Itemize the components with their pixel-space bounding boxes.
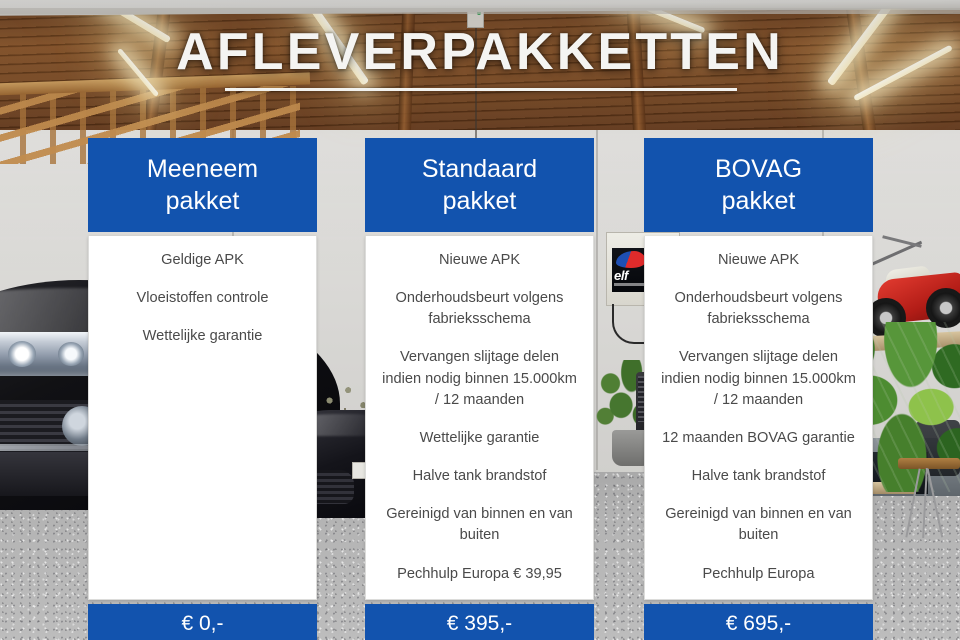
card-header: Standaard pakket	[365, 138, 594, 232]
feature-item: Vervangen slijtage delen indien nodig bi…	[655, 347, 862, 410]
feature-item: Wettelijke garantie	[376, 428, 583, 449]
page-title: AFLEVERPAKKETTEN	[0, 22, 960, 82]
feature-item: Geldige APK	[99, 250, 306, 271]
card-title-line-2: pakket	[422, 185, 537, 218]
feature-item: Onderhoudsbeurt volgens fabrieksschema	[376, 288, 583, 330]
pricing-card-bovag-pakket[interactable]: BOVAG pakket Nieuwe APK Onderhoudsbeurt …	[644, 138, 873, 640]
card-feature-list: Nieuwe APK Onderhoudsbeurt volgens fabri…	[644, 236, 873, 600]
feature-item: Nieuwe APK	[376, 250, 583, 271]
feature-item: Onderhoudsbeurt volgens fabrieksschema	[655, 288, 862, 330]
feature-item: Halve tank brandstof	[655, 466, 862, 487]
pricing-banner: elf	[0, 0, 960, 640]
card-header: BOVAG pakket	[644, 138, 873, 232]
feature-item: Wettelijke garantie	[99, 326, 306, 347]
card-price[interactable]: € 0,-	[88, 604, 317, 640]
feature-item: Pechhulp Europa	[655, 564, 862, 585]
card-feature-list: Geldige APK Vloeistoffen controle Wettel…	[88, 236, 317, 600]
feature-item: Vloeistoffen controle	[99, 288, 306, 309]
feature-item: 12 maanden BOVAG garantie	[655, 428, 862, 449]
feature-item: Halve tank brandstof	[376, 466, 583, 487]
card-title-line-2: pakket	[715, 185, 802, 218]
card-price[interactable]: € 695,-	[644, 604, 873, 640]
card-title-line-2: pakket	[147, 185, 258, 218]
card-header: Meeneem pakket	[88, 138, 317, 232]
pricing-card-standaard-pakket[interactable]: Standaard pakket Nieuwe APK Onderhoudsbe…	[365, 138, 594, 640]
feature-item: Gereinigd van binnen en van buiten	[376, 504, 583, 546]
feature-item: Nieuwe APK	[655, 250, 862, 271]
card-price[interactable]: € 395,-	[365, 604, 594, 640]
card-title-line-1: Meeneem	[147, 153, 258, 186]
pricing-card-meeneem-pakket[interactable]: Meeneem pakket Geldige APK Vloeistoffen …	[88, 138, 317, 640]
feature-item: Pechhulp Europa € 39,95	[376, 564, 583, 585]
feature-item: Vervangen slijtage delen indien nodig bi…	[376, 347, 583, 410]
card-feature-list: Nieuwe APK Onderhoudsbeurt volgens fabri…	[365, 236, 594, 600]
title-divider	[225, 88, 737, 91]
card-title-line-1: Standaard	[422, 153, 537, 186]
card-title-line-1: BOVAG	[715, 153, 802, 186]
feature-item: Gereinigd van binnen en van buiten	[655, 504, 862, 546]
